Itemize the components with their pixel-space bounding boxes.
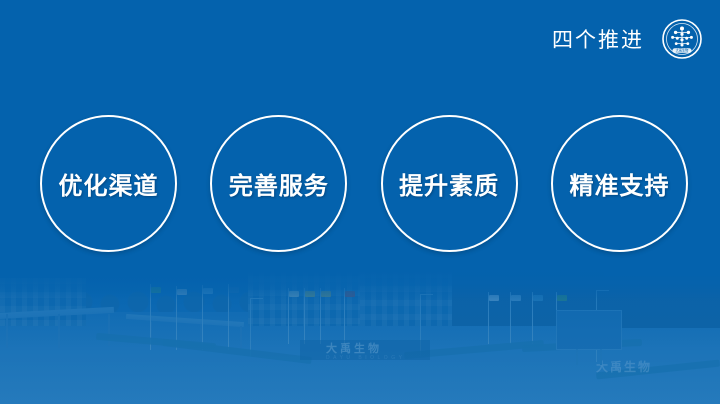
- background-campus-photo: 大禹生物 DAYU BIOLOGY 大禹生物: [0, 254, 720, 404]
- photo-inner: 大禹生物 DAYU BIOLOGY 大禹生物: [0, 254, 720, 404]
- slide-header: 四个推进: [420, 0, 720, 78]
- page-title: 四个推进: [552, 24, 644, 54]
- four-pillars-circle-row: 优化渠道 完善服务 提升素质 精准支持: [40, 113, 688, 253]
- photo-top-fade: [0, 254, 720, 300]
- pillar-circle-4[interactable]: 精准支持: [551, 115, 688, 252]
- dayu-biology-logo-icon: 大禹生物: [662, 19, 702, 59]
- pillar-label-3: 提升素质: [399, 166, 499, 201]
- pillar-label-1: 优化渠道: [59, 166, 159, 201]
- pillar-circle-3[interactable]: 提升素质: [381, 115, 518, 252]
- pillar-label-2: 完善服务: [229, 166, 329, 201]
- slide-root: 大禹生物 DAYU BIOLOGY 大禹生物 四个推进: [0, 0, 720, 404]
- logo-wordmark: 大禹生物: [676, 48, 690, 53]
- pillar-circle-1[interactable]: 优化渠道: [40, 115, 177, 252]
- pillar-circle-2[interactable]: 完善服务: [210, 115, 347, 252]
- pillar-label-4: 精准支持: [569, 166, 669, 201]
